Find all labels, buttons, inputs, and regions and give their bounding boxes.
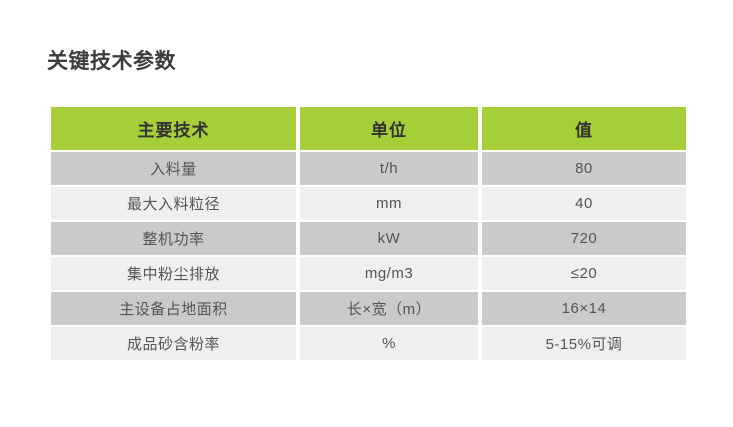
table-header: 主要技术 单位 值 bbox=[51, 107, 686, 150]
cell-value: 720 bbox=[482, 222, 686, 255]
cell-unit: mg/m3 bbox=[300, 257, 478, 290]
cell-tech: 最大入料粒径 bbox=[51, 187, 296, 220]
cell-tech: 成品砂含粉率 bbox=[51, 327, 296, 360]
cell-unit: kW bbox=[300, 222, 478, 255]
table-row: 整机功率 kW 720 bbox=[51, 222, 686, 255]
cell-unit: t/h bbox=[300, 152, 478, 185]
column-header-tech: 主要技术 bbox=[51, 107, 296, 150]
table-header-row: 主要技术 单位 值 bbox=[51, 107, 686, 150]
technical-parameters-table: 主要技术 单位 值 入料量 t/h 80 最大入料粒径 mm 40 整机功率 k… bbox=[47, 105, 690, 362]
cell-value: 40 bbox=[482, 187, 686, 220]
table-row: 成品砂含粉率 % 5-15%可调 bbox=[51, 327, 686, 360]
cell-value: 16×14 bbox=[482, 292, 686, 325]
cell-value: ≤20 bbox=[482, 257, 686, 290]
table-row: 集中粉尘排放 mg/m3 ≤20 bbox=[51, 257, 686, 290]
cell-tech: 入料量 bbox=[51, 152, 296, 185]
cell-tech: 整机功率 bbox=[51, 222, 296, 255]
page-title: 关键技术参数 bbox=[47, 47, 176, 77]
column-header-value: 值 bbox=[482, 107, 686, 150]
cell-unit: % bbox=[300, 327, 478, 360]
page-root: 关键技术参数 主要技术 单位 值 入料量 t/h 80 最大入料粒径 mm 40 bbox=[0, 0, 733, 427]
table-row: 最大入料粒径 mm 40 bbox=[51, 187, 686, 220]
column-header-unit: 单位 bbox=[300, 107, 478, 150]
table-row: 入料量 t/h 80 bbox=[51, 152, 686, 185]
cell-tech: 主设备占地面积 bbox=[51, 292, 296, 325]
cell-unit: 长×宽（m） bbox=[300, 292, 478, 325]
cell-tech: 集中粉尘排放 bbox=[51, 257, 296, 290]
cell-value: 80 bbox=[482, 152, 686, 185]
table-body: 入料量 t/h 80 最大入料粒径 mm 40 整机功率 kW 720 集中粉尘… bbox=[51, 152, 686, 360]
cell-value: 5-15%可调 bbox=[482, 327, 686, 360]
table-row: 主设备占地面积 长×宽（m） 16×14 bbox=[51, 292, 686, 325]
cell-unit: mm bbox=[300, 187, 478, 220]
